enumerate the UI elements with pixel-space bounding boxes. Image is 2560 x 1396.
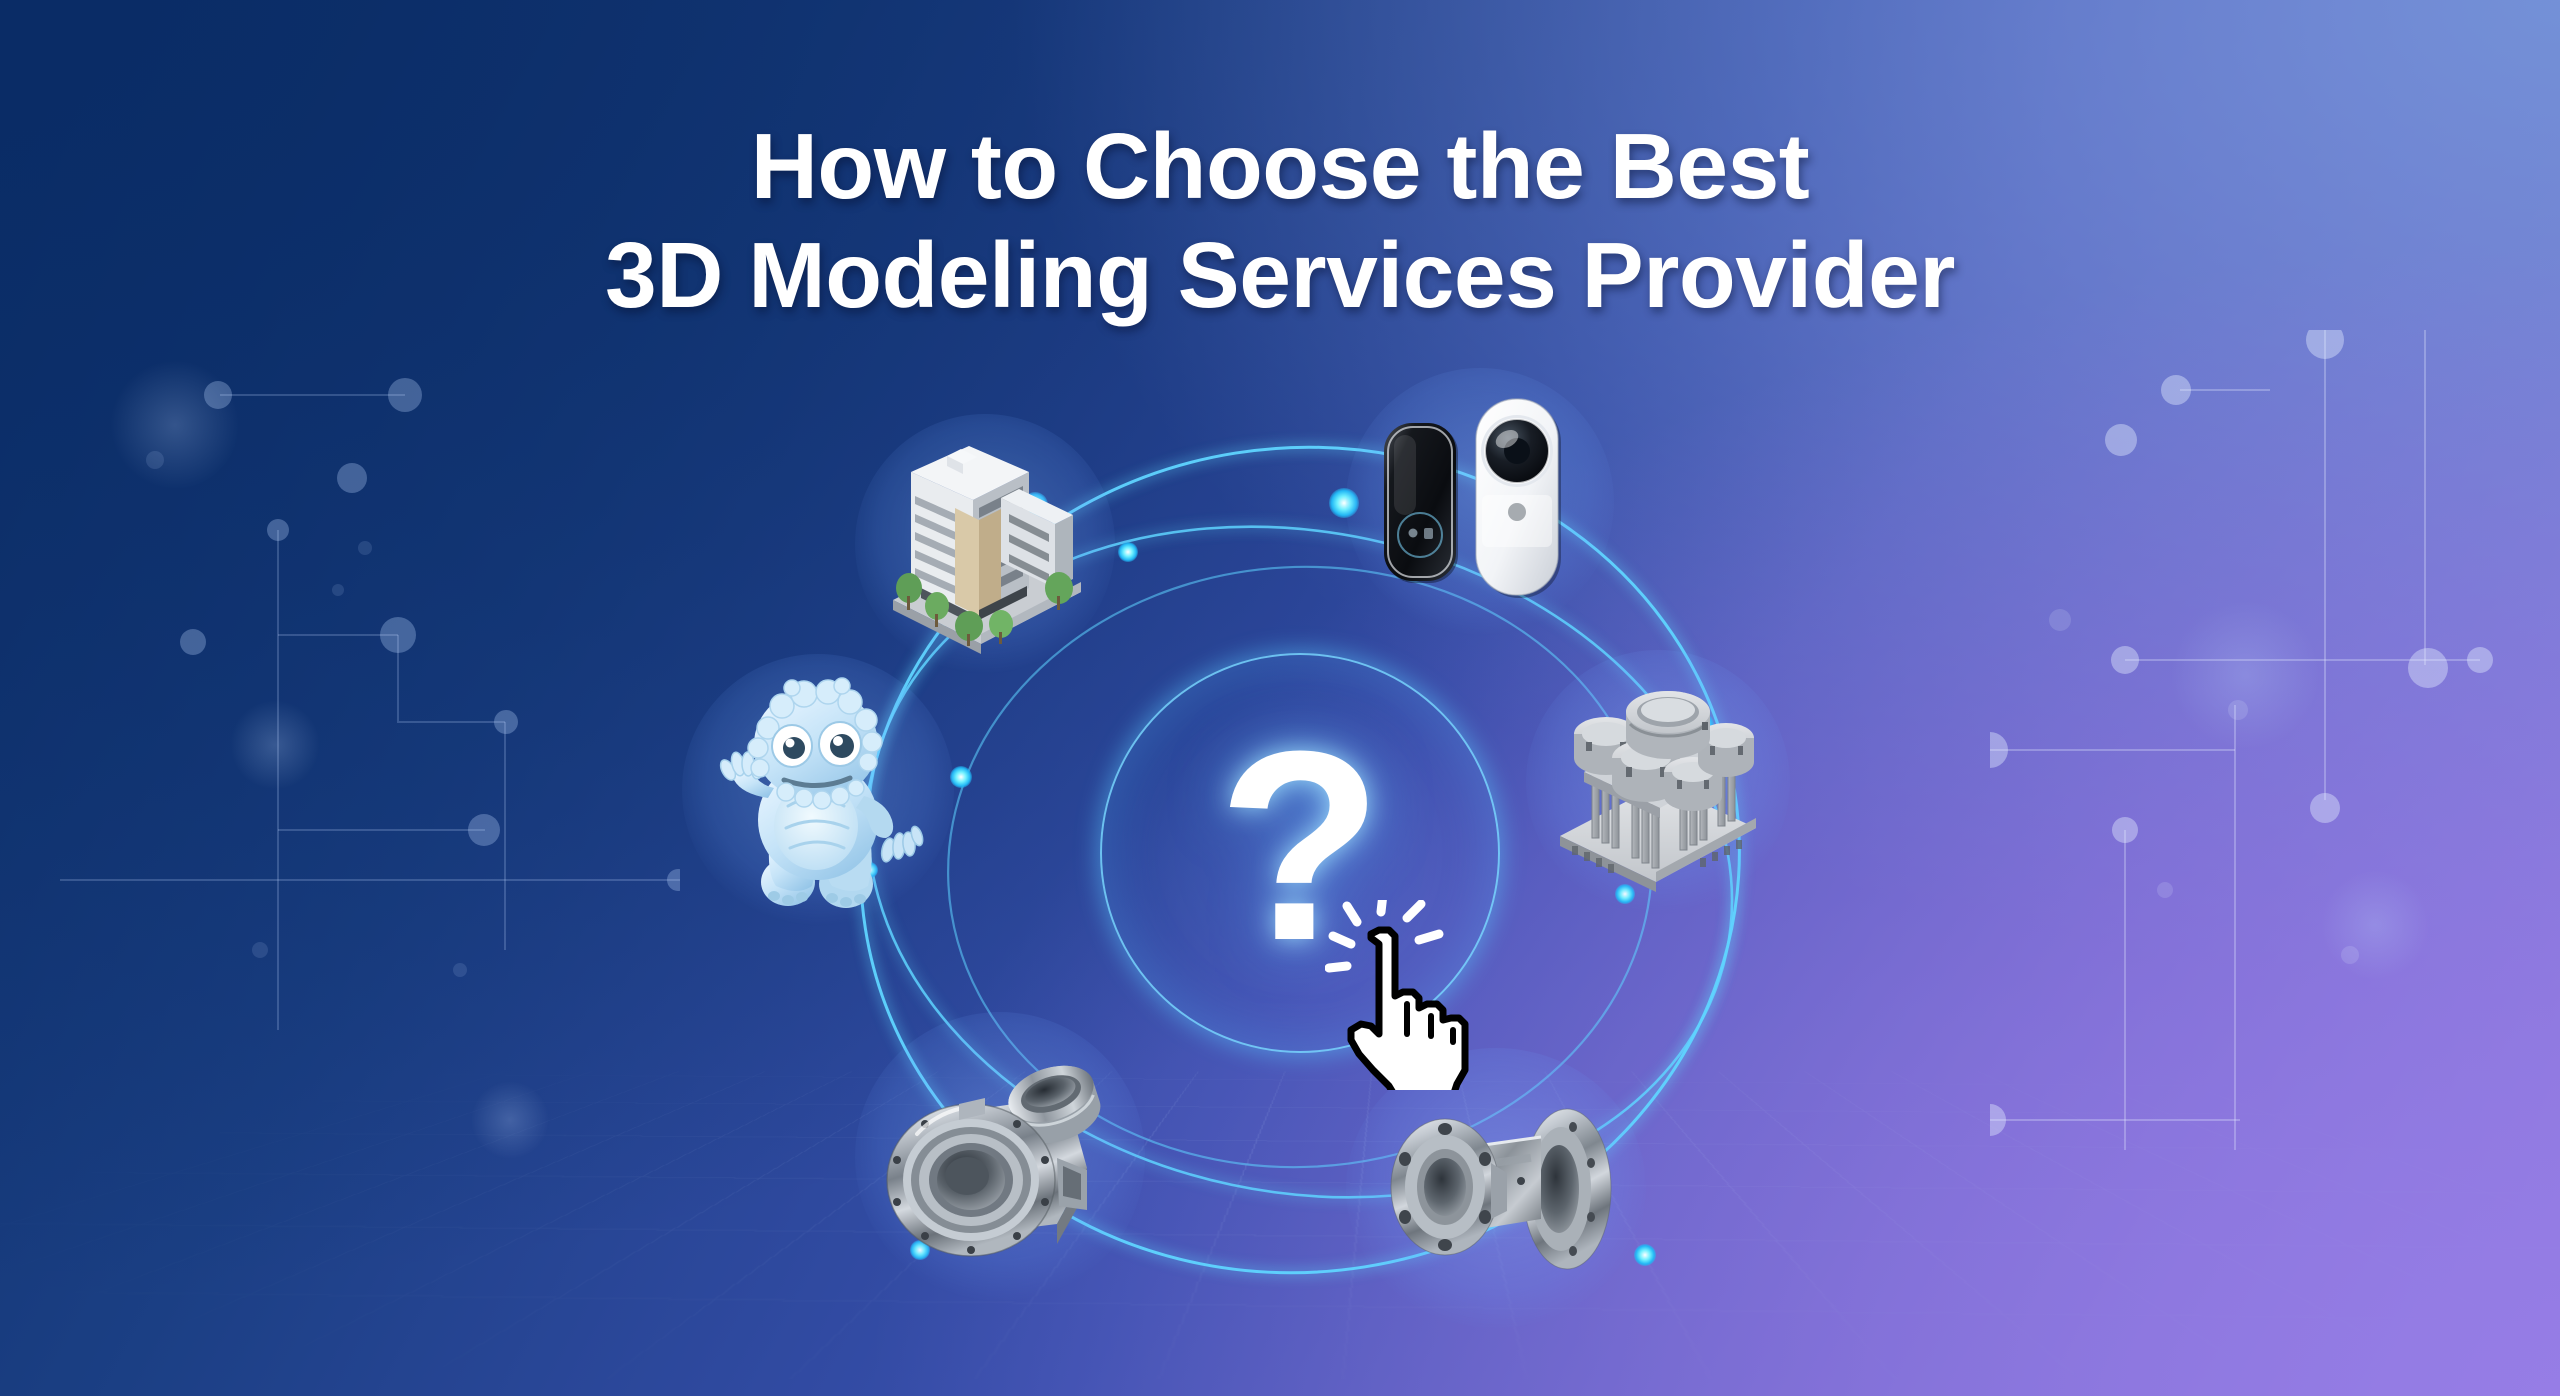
orbit-node-mechanical-a[interactable] [855,1012,1145,1302]
flange-coupling-icon [1371,1083,1621,1293]
hero-banner: How to Choose the Best 3D Modeling Servi… [0,0,2560,1396]
bokeh-blob [230,700,320,790]
orbit-node-industrial-cad[interactable] [1526,650,1790,914]
bokeh-blob [470,1080,550,1160]
smart-camera-device-icon [1380,393,1580,611]
building-model-icon [877,438,1093,650]
orbit-glow-dot [1118,542,1138,562]
orbit-glow-dot [1634,1244,1656,1266]
bokeh-blob [2170,600,2320,750]
pointing-hand-cursor-click-icon [1325,900,1505,1090]
bokeh-blob [110,360,240,490]
bokeh-blob [2320,870,2430,980]
orbit-node-architecture[interactable] [855,414,1115,674]
circuit-decoration-right [1990,330,2560,1150]
orbit-node-character[interactable] [682,654,954,926]
page-title: How to Choose the Best 3D Modeling Servi… [0,112,2560,330]
circuit-decoration-left [60,330,680,1030]
title-line-1: How to Choose the Best [0,112,2560,221]
valve-housing-icon [881,1038,1119,1276]
monster-character-icon [712,670,924,910]
industrial-assembly-icon [1550,676,1766,888]
title-line-2: 3D Modeling Services Provider [0,221,2560,330]
orbit-node-product-device[interactable] [1346,368,1614,636]
orbit-stage: ? [710,392,1890,1372]
